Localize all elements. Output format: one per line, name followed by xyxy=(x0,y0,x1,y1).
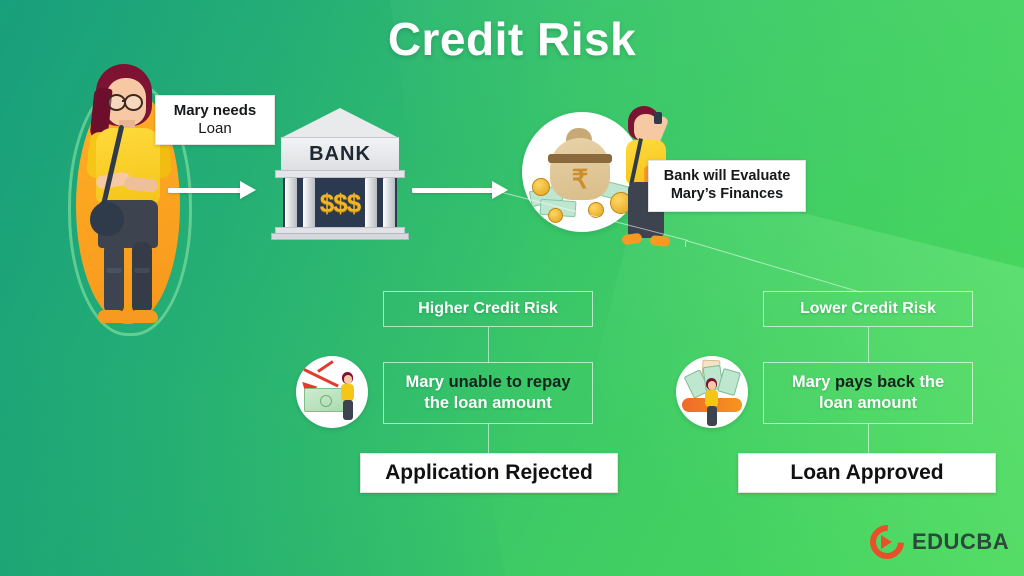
bank-base-lower xyxy=(271,233,409,240)
bank-column-1 xyxy=(285,178,297,228)
connector-evaluate-stub xyxy=(685,241,686,247)
educba-logo: EDUCBA xyxy=(870,520,1010,564)
detail-left-part2: unable to repay xyxy=(449,373,571,391)
leg-right-shape xyxy=(132,242,152,314)
label-mary-needs-loan: Mary needs Loan xyxy=(155,95,275,145)
arrow-head xyxy=(240,181,256,199)
shoulder-bag-icon xyxy=(90,202,124,236)
detail-right-part2: pays back xyxy=(835,373,915,391)
body-shape xyxy=(705,390,718,407)
lower-risk-detail-box: Mary pays back the loan amount xyxy=(763,362,973,424)
coin-shape xyxy=(548,208,563,223)
bank-building-icon: BANK $$$ xyxy=(273,108,407,240)
page-title: Credit Risk xyxy=(0,12,1024,66)
connector-vertical-left-mid xyxy=(488,327,489,363)
bank-column-2 xyxy=(303,178,315,228)
detail-left-part3: the loan amount xyxy=(424,394,551,412)
body-shape xyxy=(341,384,354,401)
educba-wordmark: EDUCBA xyxy=(912,529,1009,555)
legs-shape xyxy=(343,400,353,420)
knee-right-shape xyxy=(134,268,150,273)
bank-sign-text: BANK xyxy=(281,139,399,169)
bank-money-text: $$$ xyxy=(283,178,397,228)
bank-column-3 xyxy=(365,178,377,228)
connector-vertical-right-bottom xyxy=(868,424,869,454)
mary-needs-line2: Loan xyxy=(198,120,231,137)
celebrating-money-icon xyxy=(676,356,748,428)
detail-right-part3: the xyxy=(915,373,944,391)
higher-risk-detail-box: Mary unable to repay the loan amount xyxy=(383,362,593,424)
coin-shape xyxy=(532,178,550,196)
mary-needs-line1: Mary needs xyxy=(174,102,257,119)
glasses-right-lens-icon xyxy=(124,94,143,111)
banknote-icon xyxy=(304,388,346,412)
educba-mark-icon xyxy=(870,525,904,559)
declining-chart-money-icon xyxy=(296,356,368,428)
knee-left-shape xyxy=(106,268,122,273)
higher-credit-risk-label: Higher Credit Risk xyxy=(383,291,593,327)
detail-right-part1: Mary xyxy=(792,373,835,391)
connector-vertical-right-mid xyxy=(868,327,869,363)
bank-roof xyxy=(281,108,399,138)
shoe-right-shape xyxy=(130,310,158,323)
bank-column-4 xyxy=(383,178,395,228)
evaluate-line2: Mary’s Finances xyxy=(671,186,783,202)
detail-left-part1: Mary xyxy=(405,373,448,391)
loan-approved-label: Loan Approved xyxy=(738,453,996,493)
evaluate-line1: Bank will Evaluate xyxy=(664,168,791,184)
rupee-symbol-icon: ₹ xyxy=(550,162,610,196)
shoe-left-shape xyxy=(621,233,642,246)
bank-entablature xyxy=(275,170,405,178)
face-shape xyxy=(708,381,716,390)
logo-play-triangle xyxy=(881,535,892,549)
mary-to-bank-arrow xyxy=(168,185,256,195)
shoe-right-shape xyxy=(650,235,671,247)
connector-vertical-left-bottom xyxy=(488,424,489,454)
arrow-shaft xyxy=(412,188,494,193)
face-shape xyxy=(344,375,352,384)
arrow-shaft xyxy=(168,188,242,193)
lower-credit-risk-label: Lower Credit Risk xyxy=(763,291,973,327)
label-bank-will-evaluate: Bank will Evaluate Mary’s Finances xyxy=(648,160,806,212)
phone-icon xyxy=(654,112,662,124)
infographic-canvas: Credit Risk Mary needs Loan xyxy=(0,0,1024,576)
detail-right-part4: loan amount xyxy=(819,394,917,412)
glasses-bridge-icon xyxy=(122,100,125,102)
decline-arrow-segment-2 xyxy=(317,360,334,373)
shoe-left-shape xyxy=(98,310,126,323)
legs-shape xyxy=(707,406,717,426)
application-rejected-label: Application Rejected xyxy=(360,453,618,493)
leg-left-shape xyxy=(104,242,124,314)
